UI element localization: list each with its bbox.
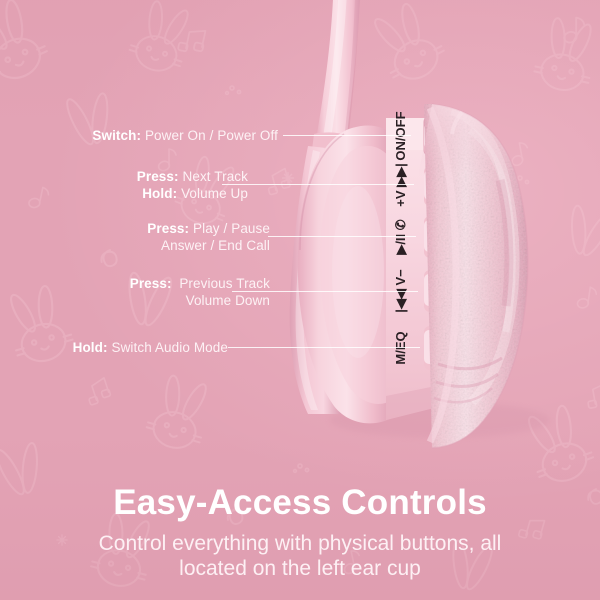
callout-value: Previous Track — [179, 276, 270, 291]
callout-power-switch: Switch: Power On / Power Off — [92, 127, 278, 144]
callout-audio-mode: Hold: Switch Audio Mode — [73, 339, 228, 356]
callout-value: Power On / Power Off — [145, 128, 278, 143]
bottom-copy-block: Easy-Access Controls Control everything … — [0, 483, 600, 582]
callout-line: Press: Next Track — [137, 168, 248, 185]
callout-line: Press: Play / Pause — [147, 220, 270, 237]
leader-line-power-switch — [283, 135, 411, 136]
callout-key: Press: — [130, 276, 172, 291]
callout-line: Answer / End Call — [147, 237, 270, 254]
subheadline-line-1: Control everything with physical buttons… — [0, 531, 600, 557]
infographic-canvas: ON/OFF +V ▶▶| ▶/II ✆ |◀◀ V− M/EQ — [0, 0, 600, 600]
button-label-mode-eq: M/EQ — [393, 331, 408, 364]
callout-key: Hold: — [73, 340, 108, 355]
callout-line: Press: Previous Track — [130, 275, 270, 292]
callout-value: Answer / End Call — [161, 238, 270, 253]
callout-line: Hold: Switch Audio Mode — [73, 339, 228, 356]
callout-previous-track: Press: Previous Track Volume Down — [130, 275, 270, 310]
callout-value: Play / Pause — [193, 221, 270, 236]
subheadline: Control everything with physical buttons… — [0, 531, 600, 582]
callout-value: Volume Down — [186, 293, 270, 308]
callout-value: Next Track — [182, 169, 248, 184]
callout-line: Hold: Volume Up — [137, 185, 248, 202]
callout-line: Switch: Power On / Power Off — [92, 127, 278, 144]
button-label-next-volume-up: +V ▶▶| — [393, 163, 408, 207]
callout-key: Press: — [147, 221, 189, 236]
callout-play-pause: Press: Play / Pause Answer / End Call — [147, 220, 270, 255]
callout-key: Switch: — [92, 128, 141, 143]
callout-key: Hold: — [142, 186, 177, 201]
headline: Easy-Access Controls — [0, 483, 600, 522]
leader-line-play-pause — [268, 236, 416, 237]
leader-line-next-track — [222, 184, 414, 185]
callout-value: Volume Up — [181, 186, 248, 201]
callout-next-track: Press: Next Track Hold: Volume Up — [137, 168, 248, 203]
callout-key: Press: — [137, 169, 179, 184]
callout-value: Switch Audio Mode — [111, 340, 228, 355]
callout-line: Volume Down — [130, 292, 270, 309]
button-label-play-call: ▶/II ✆ — [393, 219, 408, 255]
leader-line-audio-mode — [228, 347, 420, 348]
subheadline-line-2: located on the left ear cup — [0, 556, 600, 582]
